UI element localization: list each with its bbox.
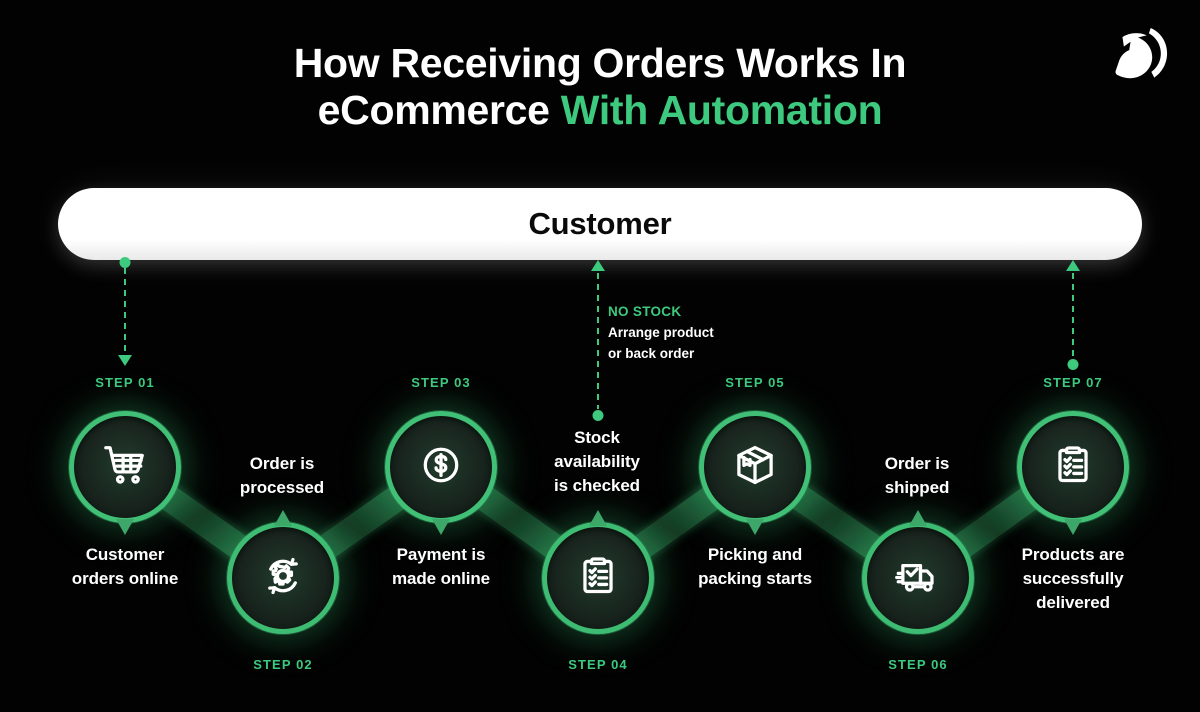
step-07-node[interactable] (1017, 411, 1129, 523)
dashed-line (597, 273, 599, 409)
flow-step07-to-customer (1072, 262, 1074, 366)
step-05-label: STEP 05 (725, 375, 785, 390)
step-02-caption: Order is processed (240, 452, 324, 500)
dashed-line (124, 268, 126, 356)
step-03-label: STEP 03 (411, 375, 471, 390)
step-05-node[interactable] (699, 411, 811, 523)
step-01-label: STEP 01 (95, 375, 155, 390)
node-pointer (746, 519, 764, 535)
flow-end-dot (1068, 359, 1079, 370)
step-01-caption: Customer orders online (72, 543, 178, 591)
node-pointer (274, 510, 292, 526)
package-box-icon (732, 442, 778, 493)
step-04-label: STEP 04 (568, 657, 628, 672)
clipboard-check-icon (1050, 442, 1096, 493)
arrow-down-icon (118, 355, 132, 366)
node-pointer (1064, 519, 1082, 535)
flow-start-dot (120, 257, 131, 268)
node-pointer (909, 510, 927, 526)
no-stock-line-1: Arrange product (608, 324, 798, 342)
step-06-label: STEP 06 (888, 657, 948, 672)
step-06-caption: Order is shipped (885, 452, 949, 500)
step-03-caption: Payment is made online (392, 543, 490, 591)
shopping-cart-icon (102, 442, 148, 493)
step-03-node[interactable] (385, 411, 497, 523)
step-05-caption: Picking and packing starts (698, 543, 812, 591)
node-pointer (432, 519, 450, 535)
no-stock-heading: NO STOCK (608, 303, 798, 321)
dollar-coin-icon (418, 442, 464, 493)
flow-step04-to-customer (597, 262, 599, 417)
step-02-label: STEP 02 (253, 657, 313, 672)
step-04-caption: Stock availability is checked (554, 426, 640, 498)
arrow-up-icon (1066, 260, 1080, 271)
step-07-label: STEP 07 (1043, 375, 1103, 390)
clipboard-check-icon (575, 553, 621, 604)
delivery-truck-icon (895, 553, 941, 604)
node-pointer (589, 510, 607, 526)
dashed-line (1072, 273, 1074, 357)
step-04-node[interactable] (542, 522, 654, 634)
flow-end-dot (593, 410, 604, 421)
no-stock-annotation: NO STOCK Arrange product or back order (608, 303, 798, 362)
no-stock-line-2: or back order (608, 345, 798, 363)
flow-customer-to-step01 (124, 262, 126, 362)
infographic-canvas: How Receiving Orders Works In eCommerce … (0, 0, 1200, 712)
step-02-node[interactable] (227, 522, 339, 634)
node-pointer (116, 519, 134, 535)
step-07-caption: Products are successfully delivered (1022, 543, 1125, 615)
gear-refresh-icon (260, 553, 306, 604)
arrow-up-icon (591, 260, 605, 271)
step-01-node[interactable] (69, 411, 181, 523)
step-06-node[interactable] (862, 522, 974, 634)
